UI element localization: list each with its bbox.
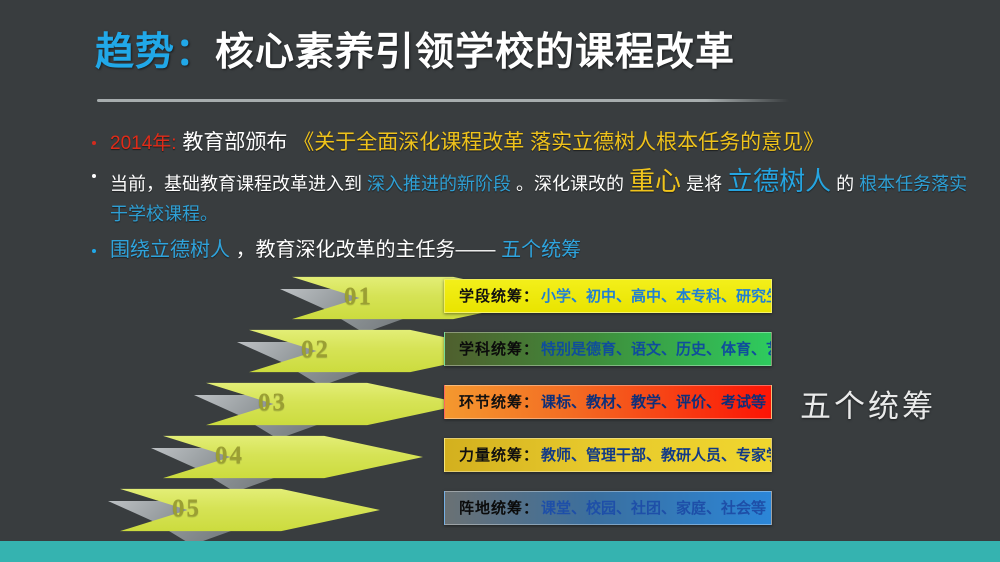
bullet-2-segment-5: 是将 — [686, 174, 722, 194]
row-bar-05: 阵地统筹：课堂、校园、社团、家庭、社会等 — [444, 491, 772, 525]
page-title: 趋势：核心素养引领学校的课程改革 — [95, 22, 955, 84]
row-value-05: 课堂、校园、社团、家庭、社会等 — [541, 500, 766, 517]
row-bar-01: 学段统筹：小学、初中、高中、本专科、研究生等学段 — [444, 279, 772, 313]
title-divider — [97, 99, 789, 102]
row-number-04: 04 — [215, 442, 244, 470]
row-value-01: 小学、初中、高中、本专科、研究生等学段 — [541, 288, 772, 305]
row-number-03: 03 — [258, 389, 287, 417]
row-number-01: 01 — [344, 283, 373, 311]
bullet-1-segment-year: 2014年: — [110, 133, 177, 154]
bullet-2-emphasis-core: 重心 — [629, 166, 681, 196]
statement-row-01: 01 学段统筹：小学、初中、高中、本专科、研究生等学段 — [292, 275, 772, 321]
row-bar-02: 学科统筹：特别是德育、语文、历史、体育、艺术等学科 — [444, 332, 772, 366]
row-bar-04: 力量统筹：教师、管理干部、教研人员、专家学者、社会人士等 — [444, 438, 772, 472]
row-number-02: 02 — [301, 336, 330, 364]
bullet-1-segment-doc: 《关于全面深化课程改革 落实立德树人根本任务的意见》 — [293, 131, 824, 154]
bullet-marker-icon — [92, 141, 96, 145]
row-label-01: 学段统筹： — [459, 289, 539, 305]
diagram-caption: 五个统筹 — [800, 381, 936, 426]
page-title-main: 核心素养引领学校的课程改革 — [215, 31, 735, 74]
bullet-2-segment-1: 当前，基础教育课程改革进入到 — [110, 174, 362, 194]
bullet-1-segment-issuer: 教育部颁布 — [182, 131, 287, 154]
statement-row-03: 03 环节统筹：课标、教材、教学、评价、考试等 — [206, 381, 772, 427]
bullet-2-segment-2: 深入推进的新阶段 — [367, 174, 511, 194]
arrow-chevron-04: 04 — [163, 434, 423, 480]
arrow-chevron-03: 03 — [206, 381, 466, 427]
bullet-3-segment-3: 五个统筹 — [501, 239, 581, 261]
row-value-02: 特别是德育、语文、历史、体育、艺术等学科 — [541, 341, 772, 358]
row-label-02: 学科统筹： — [459, 342, 539, 358]
list-item: 围绕立德树人 ，教育深化改革的主任务—— 五个统筹 — [88, 236, 978, 265]
statement-row-05: 05 阵地统筹：课堂、校园、社团、家庭、社会等 — [120, 487, 772, 533]
bullet-2-segment-3: 。深化课改的 — [516, 174, 624, 194]
row-label-04: 力量统筹： — [459, 448, 539, 464]
bullet-2-segment-7: 的 — [836, 174, 854, 194]
row-bar-03: 环节统筹：课标、教材、教学、评价、考试等 — [444, 385, 772, 419]
row-value-04: 教师、管理干部、教研人员、专家学者、社会人士等 — [541, 447, 772, 464]
bullet-2-emphasis-lidetrenren: 立德树人 — [727, 166, 831, 196]
list-item: 当前，基础教育课程改革进入到 深入推进的新阶段 。深化课改的 重心 是将 立德树… — [88, 162, 978, 228]
row-number-05: 05 — [172, 495, 201, 523]
statement-row-04: 04 力量统筹：教师、管理干部、教研人员、专家学者、社会人士等 — [163, 434, 772, 480]
bullet-marker-icon — [92, 174, 96, 178]
arrow-chevron-05: 05 — [120, 487, 380, 533]
bullet-list: 2014年: 教育部颁布 《关于全面深化课程改革 落实立德树人根本任务的意见》 … — [88, 128, 978, 269]
row-label-03: 环节统筹： — [459, 395, 539, 411]
page-title-prefix: 趋势： — [95, 31, 215, 74]
bullet-3-segment-1: 围绕立德树人 — [110, 239, 230, 261]
row-value-03: 课标、教材、教学、评价、考试等 — [541, 394, 766, 411]
statement-row-02: 02 学科统筹：特别是德育、语文、历史、体育、艺术等学科 — [249, 328, 772, 374]
bullet-marker-icon — [92, 249, 96, 253]
row-label-05: 阵地统筹： — [459, 501, 539, 517]
footer-bar — [0, 541, 1000, 562]
list-item: 2014年: 教育部颁布 《关于全面深化课程改革 落实立德树人根本任务的意见》 — [88, 128, 978, 158]
slide-canvas: 趋势：核心素养引领学校的课程改革 2014年: 教育部颁布 《关于全面深化课程改… — [0, 0, 1000, 562]
bullet-3-segment-2: ，教育深化改革的主任务—— — [236, 239, 496, 261]
